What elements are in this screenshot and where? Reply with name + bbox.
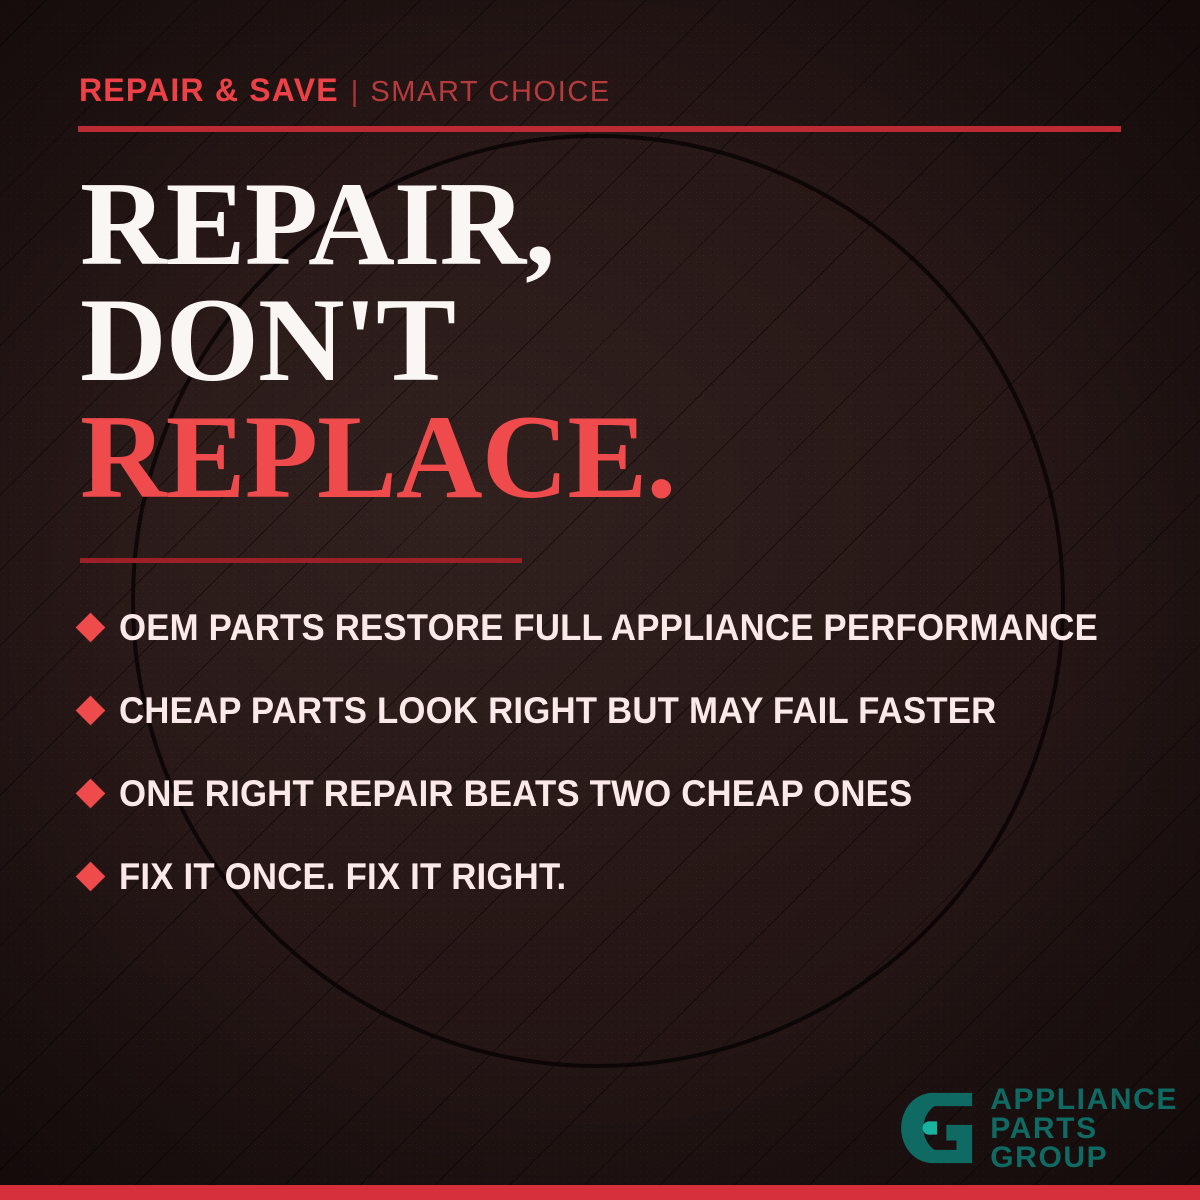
brand-word-line-2: PARTS [990,1114,1178,1143]
list-item-label: FIX IT ONCE. FIX IT RIGHT. [119,856,566,898]
eyebrow-main-label: REPAIR & SAVE [79,72,339,109]
diamond-bullet-icon [76,613,106,643]
list-item-label: OEM PARTS RESTORE FULL APPLIANCE PERFORM… [119,607,1098,649]
brand-word-line-3: GROUP [990,1143,1178,1172]
brand-word-line-1: APPLIANCE [990,1085,1178,1114]
diamond-bullet-icon [76,779,106,809]
list-item: CHEAP PARTS LOOK RIGHT BUT MAY FAIL FAST… [80,669,1160,752]
headline-line-2: DON'T [80,282,1140,398]
footer-accent-bar [0,1185,1200,1200]
brand-logo: APPLIANCE PARTS GROUP [898,1085,1178,1172]
eyebrow-separator: | [351,76,359,109]
diamond-bullet-icon [76,696,106,726]
eyebrow-sub-label: SMART CHOICE [370,76,611,109]
list-item: OEM PARTS RESTORE FULL APPLIANCE PERFORM… [80,586,1160,669]
headline-line-1: REPAIR, [80,166,1140,282]
g-monogram-icon [898,1089,976,1167]
list-item-label: CHEAP PARTS LOOK RIGHT BUT MAY FAIL FAST… [119,690,996,732]
list-item: ONE RIGHT REPAIR BEATS TWO CHEAP ONES [80,752,1160,835]
headline-divider-rule [80,558,522,563]
page-title: REPAIR, DON'T REPLACE. [80,166,1140,515]
eyebrow-banner: REPAIR & SAVE | SMART CHOICE [79,72,611,109]
list-item: FIX IT ONCE. FIX IT RIGHT. [80,835,1160,918]
header-divider-rule [78,126,1121,132]
brand-logo-wordmark: APPLIANCE PARTS GROUP [990,1085,1178,1172]
list-item-label: ONE RIGHT REPAIR BEATS TWO CHEAP ONES [119,773,912,815]
diamond-bullet-icon [76,862,106,892]
promo-poster: REPAIR & SAVE | SMART CHOICE REPAIR, DON… [0,0,1200,1200]
headline-line-3: REPLACE. [80,399,1140,515]
benefit-list: OEM PARTS RESTORE FULL APPLIANCE PERFORM… [80,586,1160,918]
